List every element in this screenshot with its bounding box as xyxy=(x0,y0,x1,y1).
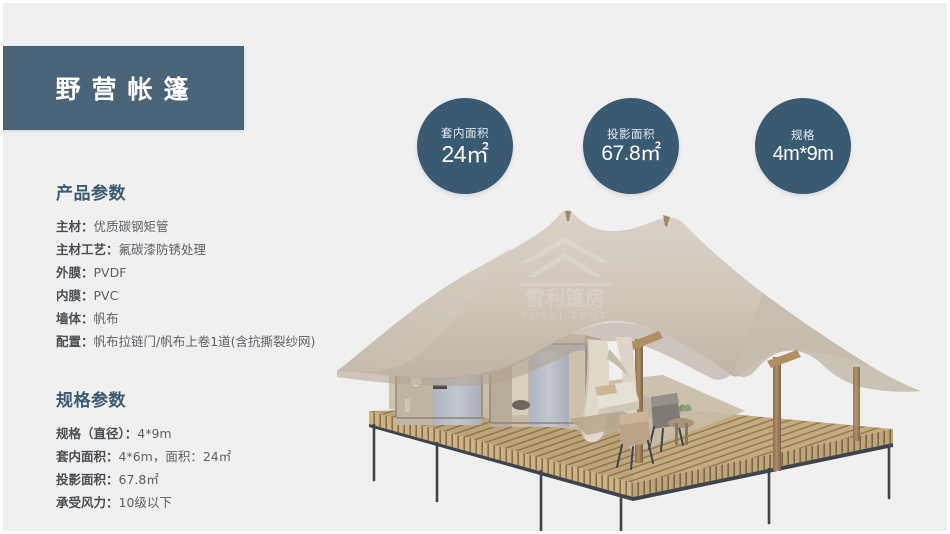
spec-row: 墙体：帆布 xyxy=(56,307,315,330)
specification-parameters-block: 规格参数 规格（直径）：4*9m 套内面积：4*6m，面积：24㎡ 投影面积：6… xyxy=(56,386,231,514)
spec-row: 配置：帆布拉链门/帆布上卷1道(含抗撕裂纱网) xyxy=(56,330,315,353)
badge-label: 规格 xyxy=(791,127,815,143)
spec-value: PVDF xyxy=(94,265,127,280)
spec-value: 优质碳钢矩管 xyxy=(94,219,169,234)
badge-label: 投影面积 xyxy=(607,126,655,142)
support-post-right xyxy=(773,357,781,471)
watermark-cn-text: 雪利篷房 xyxy=(525,286,605,310)
spec-value: 氟碳漆防锈处理 xyxy=(119,242,207,257)
spec-label: 承受风力： xyxy=(56,495,119,510)
spec-row: 规格（直径）：4*9m xyxy=(56,422,231,445)
spec-row: 主材工艺：氟碳漆防锈处理 xyxy=(56,238,315,261)
spec-value: PVC xyxy=(94,288,119,303)
spec-label: 墙体： xyxy=(56,311,94,326)
spec-row: 主材：优质碳钢矩管 xyxy=(56,215,315,238)
spec-label: 主材： xyxy=(56,219,94,234)
spec-value: 帆布 xyxy=(94,311,119,326)
product-parameters-block: 产品参数 主材：优质碳钢矩管 主材工艺：氟碳漆防锈处理 外膜：PVDF 内膜：P… xyxy=(56,179,315,353)
watermark-en-text: XUELI TENT xyxy=(521,311,609,322)
spec-row: 外膜：PVDF xyxy=(56,261,315,284)
spec-label: 套内面积： xyxy=(56,449,119,464)
spec-label: 投影面积： xyxy=(56,472,119,487)
page-title-banner: 野营帐篷 xyxy=(0,46,244,130)
spec-label: 主材工艺： xyxy=(56,242,119,257)
specification-parameters-heading: 规格参数 xyxy=(56,386,231,411)
specification-parameters-list: 规格（直径）：4*9m 套内面积：4*6m，面积：24㎡ 投影面积：67.8㎡ … xyxy=(56,422,231,514)
spec-row: 投影面积：67.8㎡ xyxy=(56,468,231,491)
product-parameters-list: 主材：优质碳钢矩管 主材工艺：氟碳漆防锈处理 外膜：PVDF 内膜：PVC 墙体… xyxy=(56,215,315,353)
spec-value: 10级以下 xyxy=(119,495,172,510)
product-parameters-heading: 产品参数 xyxy=(56,179,315,204)
spec-label: 外膜： xyxy=(56,265,94,280)
spec-row: 套内面积：4*6m，面积：24㎡ xyxy=(56,445,231,468)
product-spec-page: 野营帐篷 产品参数 主材：优质碳钢矩管 主材工艺：氟碳漆防锈处理 外膜：PVDF… xyxy=(0,0,950,534)
spec-value: 67.8㎡ xyxy=(119,472,159,487)
spec-label: 配置： xyxy=(56,334,94,349)
spec-value: 帆布拉链门/帆布上卷1道(含抗撕裂纱网) xyxy=(94,334,316,349)
page-title: 野营帐篷 xyxy=(44,70,199,106)
tent-illustration: 雪利篷房 XUELI TENT xyxy=(333,153,950,534)
spec-row: 承受风力：10级以下 xyxy=(56,491,231,514)
spec-label: 规格（直径）： xyxy=(56,426,137,441)
spec-value: 4*9m xyxy=(137,426,171,441)
spec-row: 内膜：PVC xyxy=(56,284,315,307)
spec-value: 4*6m，面积：24㎡ xyxy=(119,449,232,464)
support-post-far xyxy=(853,367,860,441)
badge-label: 套内面积 xyxy=(441,125,489,141)
spec-label: 内膜： xyxy=(56,288,94,303)
